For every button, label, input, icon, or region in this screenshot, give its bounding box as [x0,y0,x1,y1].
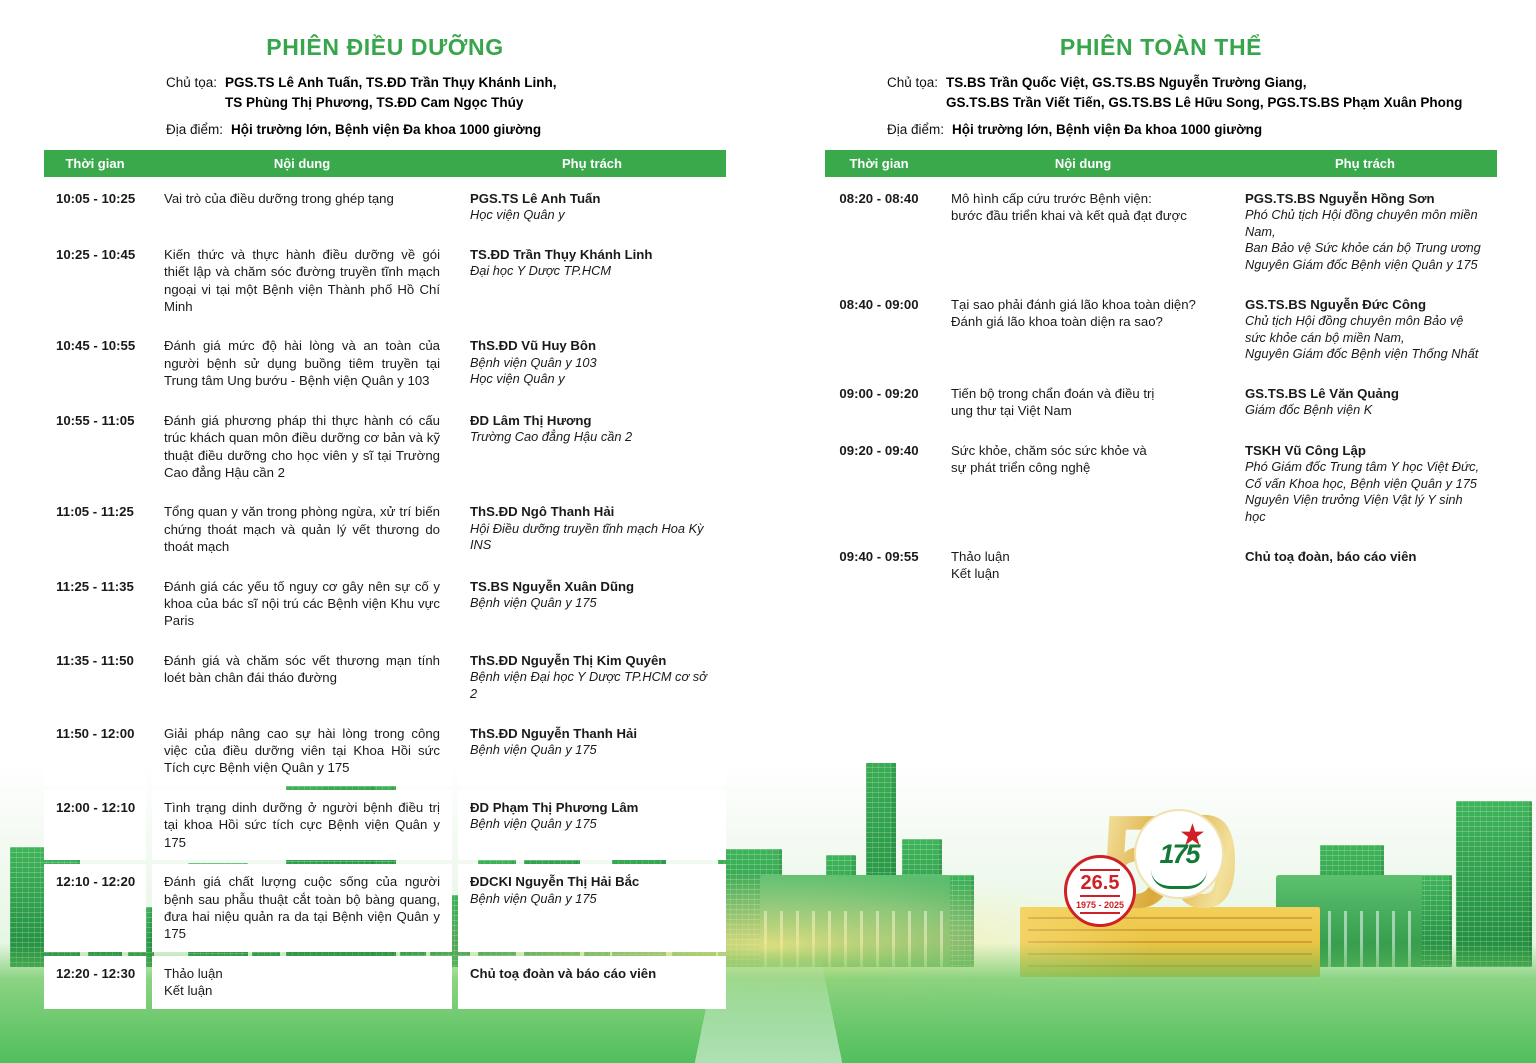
chair-row-cont: Chủ tọa: TS Phùng Thị Phương, TS.ĐD Cam … [44,93,726,113]
venue-value: Hội trường lớn, Bệnh viện Đa khoa 1000 g… [952,120,1262,140]
col-header-topic: Nội dung [152,150,452,177]
person-name: ThS.ĐD Ngô Thanh Hải [470,503,714,520]
agenda-table-nursing: Thời gian Nội dung Phụ trách 10:05 - 10:… [44,146,726,1013]
person-org: Nguyên Giám đốc Bệnh viện Thống Nhất [1245,346,1485,363]
table-row: 10:25 - 10:45Kiến thức và thực hành điều… [44,237,726,325]
chair-line-1: PGS.TS Lê Anh Tuấn, TS.ĐD Trần Thụy Khán… [225,73,557,93]
chair-row-cont: Chủ tọa: GS.TS.BS Trần Viết Tiến, GS.TS.… [825,93,1497,113]
cell-person: ĐDCKI Nguyễn Thị Hải BắcBệnh viện Quân y… [458,864,726,952]
cell-topic: Sức khỏe, chăm sóc sức khỏe vàsự phát tr… [939,433,1227,535]
person-name: ThS.ĐD Nguyễn Thị Kim Quyên [470,652,714,669]
cell-time: 10:05 - 10:25 [44,181,146,233]
person-org: Giám đốc Bệnh viện K [1245,402,1485,419]
person-org: Bệnh viện Quân y 103 [470,355,714,372]
cell-topic: Tổng quan y văn trong phòng ngừa, xử trí… [152,494,452,564]
person-name: ĐDCKI Nguyễn Thị Hải Bắc [470,873,714,890]
person-org: Bệnh viện Quân y 175 [470,891,714,908]
cell-person: PGS.TS.BS Nguyễn Hồng SơnPhó Chủ tịch Hộ… [1233,181,1497,283]
person-name: ThS.ĐD Vũ Huy Bôn [470,337,714,354]
cell-time: 08:40 - 09:00 [825,287,933,372]
venue-row: Địa điểm: Hội trường lớn, Bệnh viện Đa k… [44,120,726,140]
cell-person: ĐD Phạm Thị Phương LâmBệnh viện Quân y 1… [458,790,726,860]
cell-topic: Thảo luậnKết luận [152,956,452,1009]
cell-time: 09:40 - 09:55 [825,539,933,592]
table-row: 09:00 - 09:20Tiến bộ trong chẩn đoán và … [825,376,1497,429]
cell-time: 10:55 - 11:05 [44,403,146,491]
cell-time: 12:10 - 12:20 [44,864,146,952]
col-header-time: Thời gian [44,150,146,177]
table-row: 08:20 - 08:40Mô hình cấp cứu trước Bệnh … [825,181,1497,283]
table-row: 11:35 - 11:50Đánh giá và chăm sóc vết th… [44,643,726,712]
cell-person: GS.TS.BS Lê Văn QuảngGiám đốc Bệnh viện … [1233,376,1497,429]
cell-topic: Thảo luậnKết luận [939,539,1227,592]
cell-topic: Kiến thức và thực hành điều dưỡng về gói… [152,237,452,325]
session-meta: Chủ tọa: TS.BS Trần Quốc Việt, GS.TS.BS … [825,73,1497,140]
agenda-page: PHIÊN ĐIỀU DƯỠNG Chủ tọa: PGS.TS Lê Anh … [0,0,1536,1063]
session-meta: Chủ tọa: PGS.TS Lê Anh Tuấn, TS.ĐD Trần … [44,73,726,140]
col-header-topic: Nội dung [939,150,1227,177]
cell-time: 12:20 - 12:30 [44,956,146,1009]
venue-value: Hội trường lớn, Bệnh viện Đa khoa 1000 g… [231,120,541,140]
person-org: Bệnh viện Quân y 175 [470,595,714,612]
person-org: Cố vấn Khoa học, Bệnh viện Quân y 175 [1245,476,1485,493]
person-org: Đại học Y Dược TP.HCM [470,263,714,280]
person-name: ĐD Phạm Thị Phương Lâm [470,799,714,816]
person-org: Trường Cao đẳng Hậu cần 2 [470,429,714,446]
person-org: Ban Bảo vệ Sức khỏe cán bộ Trung ương [1245,240,1485,257]
chair-label: Chủ tọa: [887,73,938,93]
table-row: 11:05 - 11:25Tổng quan y văn trong phòng… [44,494,726,564]
table-row: 11:25 - 11:35Đánh giá các yếu tố nguy cơ… [44,569,726,639]
table-header-row: Thời gian Nội dung Phụ trách [44,150,726,177]
cell-time: 10:25 - 10:45 [44,237,146,325]
table-head: Thời gian Nội dung Phụ trách [825,150,1497,177]
person-org: Bệnh viện Quân y 175 [470,742,714,759]
cell-person: PGS.TS Lê Anh TuấnHọc viện Quân y [458,181,726,233]
cell-topic: Tiến bộ trong chẩn đoán và điều trịung t… [939,376,1227,429]
table-body: 08:20 - 08:40Mô hình cấp cứu trước Bệnh … [825,181,1497,592]
person-org: Bệnh viện Quân y 175 [470,816,714,833]
table-body: 10:05 - 10:25Vai trò của điều dưỡng tron… [44,181,726,1009]
session-title: PHIÊN TOÀN THỂ [825,34,1497,61]
cell-time: 12:00 - 12:10 [44,790,146,860]
table-row: 10:05 - 10:25Vai trò của điều dưỡng tron… [44,181,726,233]
chair-row: Chủ tọa: TS.BS Trần Quốc Việt, GS.TS.BS … [825,73,1497,93]
cell-time: 11:35 - 11:50 [44,643,146,712]
cell-topic: Mô hình cấp cứu trước Bệnh viện:bước đầu… [939,181,1227,283]
venue-label: Địa điểm: [166,120,223,140]
col-header-time: Thời gian [825,150,933,177]
chair-line-2: TS Phùng Thị Phương, TS.ĐD Cam Ngọc Thúy [225,93,523,113]
col-header-person: Phụ trách [1233,150,1497,177]
col-header-person: Phụ trách [458,150,726,177]
person-name: Chủ toạ đoàn và báo cáo viên [470,965,714,982]
cell-topic: Tình trạng dinh dưỡng ở người bệnh điều … [152,790,452,860]
cell-person: ThS.ĐD Nguyễn Thanh HảiBệnh viện Quân y … [458,716,726,786]
person-name: TS.ĐD Trần Thụy Khánh Linh [470,246,714,263]
cell-time: 11:05 - 11:25 [44,494,146,564]
cell-time: 11:50 - 12:00 [44,716,146,786]
table-header-row: Thời gian Nội dung Phụ trách [825,150,1497,177]
chair-row: Chủ tọa: PGS.TS Lê Anh Tuấn, TS.ĐD Trần … [44,73,726,93]
table-row: 11:50 - 12:00Giải pháp nâng cao sự hài l… [44,716,726,786]
person-name: GS.TS.BS Nguyễn Đức Công [1245,296,1485,313]
cell-person: GS.TS.BS Nguyễn Đức CôngChủ tịch Hội đồn… [1233,287,1497,372]
table-head: Thời gian Nội dung Phụ trách [44,150,726,177]
agenda-table-plenary: Thời gian Nội dung Phụ trách 08:20 - 08:… [825,146,1497,596]
table-row: 12:20 - 12:30Thảo luậnKết luậnChủ toạ đo… [44,956,726,1009]
session-title: PHIÊN ĐIỀU DƯỠNG [44,34,726,61]
person-org: Học viện Quân y [470,371,714,388]
venue-row: Địa điểm: Hội trường lớn, Bệnh viện Đa k… [825,120,1497,140]
person-name: TSKH Vũ Công Lập [1245,442,1485,459]
cell-person: TS.ĐD Trần Thụy Khánh LinhĐại học Y Dược… [458,237,726,325]
cell-topic: Giải pháp nâng cao sự hài lòng trong côn… [152,716,452,786]
person-name: PGS.TS Lê Anh Tuấn [470,190,714,207]
table-row: 10:55 - 11:05Đánh giá phương pháp thi th… [44,403,726,491]
person-name: ThS.ĐD Nguyễn Thanh Hải [470,725,714,742]
chair-label: Chủ tọa: [166,73,217,93]
cell-time: 08:20 - 08:40 [825,181,933,283]
person-name: TS.BS Nguyễn Xuân Dũng [470,578,714,595]
chair-line-2: GS.TS.BS Trần Viết Tiến, GS.TS.BS Lê Hữu… [946,93,1462,113]
table-row: 12:10 - 12:20Đánh giá chất lượng cuộc số… [44,864,726,952]
person-org: Phó Chủ tịch Hội đồng chuyên môn miền Na… [1245,207,1485,240]
venue-label: Địa điểm: [887,120,944,140]
person-org: Phó Giám đốc Trung tâm Y học Việt Đức, [1245,459,1485,476]
table-row: 09:40 - 09:55Thảo luậnKết luậnChủ toạ đo… [825,539,1497,592]
person-org: Chủ tịch Hội đồng chuyên môn Bảo vệ [1245,313,1485,330]
person-org: Bệnh viện Đại học Y Dược TP.HCM cơ sở 2 [470,669,714,702]
person-org: Nguyên Giám đốc Bệnh viện Quân y 175 [1245,257,1485,274]
chair-line-1: TS.BS Trần Quốc Việt, GS.TS.BS Nguyễn Tr… [946,73,1306,93]
person-name: GS.TS.BS Lê Văn Quảng [1245,385,1485,402]
cell-person: ĐD Lâm Thị HươngTrường Cao đẳng Hậu cần … [458,403,726,491]
table-row: 09:20 - 09:40Sức khỏe, chăm sóc sức khỏe… [825,433,1497,535]
cell-time: 10:45 - 10:55 [44,328,146,398]
table-row: 12:00 - 12:10Tình trạng dinh dưỡng ở ngư… [44,790,726,860]
cell-person: ThS.ĐD Vũ Huy BônBệnh viện Quân y 103Học… [458,328,726,398]
person-org: sức khỏe cán bộ miền Nam, [1245,330,1485,347]
session-block-nursing: PHIÊN ĐIỀU DƯỠNG Chủ tọa: PGS.TS Lê Anh … [44,34,726,1013]
cell-person: TSKH Vũ Công LậpPhó Giám đốc Trung tâm Y… [1233,433,1497,535]
cell-topic: Đánh giá và chăm sóc vết thương mạn tính… [152,643,452,712]
person-org: Học viện Quân y [470,207,714,224]
cell-person: ThS.ĐD Nguyễn Thị Kim QuyênBệnh viện Đại… [458,643,726,712]
cell-topic: Tại sao phải đánh giá lão khoa toàn diện… [939,287,1227,372]
cell-person: Chủ toạ đoàn và báo cáo viên [458,956,726,1009]
person-name: ĐD Lâm Thị Hương [470,412,714,429]
cell-topic: Đánh giá mức độ hài lòng và an toàn của … [152,328,452,398]
cell-topic: Đánh giá các yếu tố nguy cơ gây nên sự c… [152,569,452,639]
person-org: Hội Điều dưỡng truyền tĩnh mạch Hoa Kỳ I… [470,521,714,554]
cell-topic: Vai trò của điều dưỡng trong ghép tạng [152,181,452,233]
session-block-plenary: PHIÊN TOÀN THỂ Chủ tọa: TS.BS Trần Quốc … [825,34,1497,596]
cell-time: 09:00 - 09:20 [825,376,933,429]
person-name: Chủ toạ đoàn, báo cáo viên [1245,548,1485,565]
table-row: 10:45 - 10:55Đánh giá mức độ hài lòng và… [44,328,726,398]
cell-topic: Đánh giá chất lượng cuộc sống của người … [152,864,452,952]
cell-topic: Đánh giá phương pháp thi thực hành có cấ… [152,403,452,491]
cell-person: ThS.ĐD Ngô Thanh HảiHội Điều dưỡng truyề… [458,494,726,564]
person-name: PGS.TS.BS Nguyễn Hồng Sơn [1245,190,1485,207]
cell-person: Chủ toạ đoàn, báo cáo viên [1233,539,1497,592]
cell-time: 09:20 - 09:40 [825,433,933,535]
table-row: 08:40 - 09:00Tại sao phải đánh giá lão k… [825,287,1497,372]
cell-time: 11:25 - 11:35 [44,569,146,639]
person-org: Nguyên Viện trưởng Viện Vật lý Y sinh họ… [1245,492,1485,525]
cell-person: TS.BS Nguyễn Xuân DũngBệnh viện Quân y 1… [458,569,726,639]
